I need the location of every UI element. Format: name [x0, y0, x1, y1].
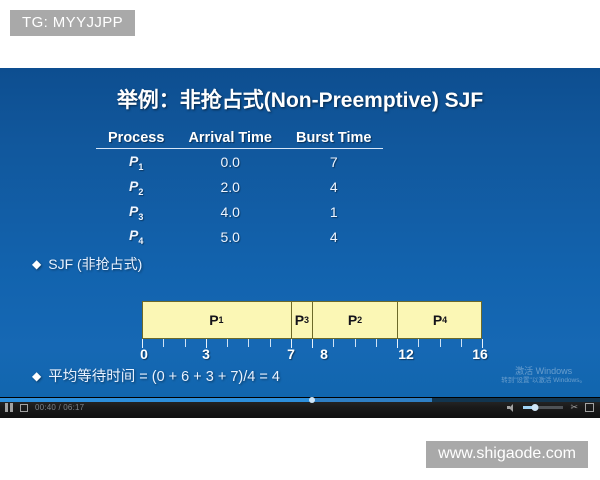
column-header-burst-time: Burst Time: [284, 130, 383, 149]
cell-burst: 7: [284, 149, 383, 174]
gantt-chart: P1 P3 P2 P4: [142, 301, 482, 339]
process-table: Process Arrival Time Burst Time P1 0.0 7…: [96, 130, 383, 248]
gantt-segment-p2: P2: [312, 301, 397, 339]
speaker-icon[interactable]: [507, 403, 516, 412]
table-header-row: Process Arrival Time Burst Time: [96, 130, 383, 149]
windows-activation-line2: 转到"设置"以激活 Windows。: [501, 377, 586, 385]
cell-burst: 4: [284, 223, 383, 248]
cell-arrival: 4.0: [176, 199, 284, 224]
windows-activation-watermark: 激活 Windows 转到"设置"以激活 Windows。: [501, 366, 586, 385]
wrench-icon[interactable]: ✂: [570, 403, 578, 412]
diamond-bullet-icon: ◆: [32, 257, 41, 271]
cell-process: P2: [96, 174, 176, 199]
screenshot-root: TG: MYYJJPP 举例：非抢占式(Non-Preemptive) SJF …: [0, 0, 600, 480]
controls-left-group: 00:40 / 06:17: [5, 403, 84, 412]
site-watermark: www.shigaode.com: [426, 441, 588, 468]
gantt-segment-p3: P3: [291, 301, 312, 339]
axis-tick-label: 8: [320, 346, 328, 362]
time-display: 00:40 / 06:17: [35, 403, 84, 412]
cell-arrival: 2.0: [176, 174, 284, 199]
cell-process: P1: [96, 149, 176, 174]
seek-handle[interactable]: [309, 397, 315, 403]
video-player[interactable]: 举例：非抢占式(Non-Preemptive) SJF Process Arri…: [0, 68, 600, 417]
cell-arrival: 0.0: [176, 149, 284, 174]
pause-icon[interactable]: [5, 403, 13, 412]
volume-handle[interactable]: [532, 404, 539, 411]
axis-tick-label: 16: [472, 346, 488, 362]
column-header-process: Process: [96, 130, 176, 149]
controls-right-group: ✂: [507, 403, 594, 412]
average-waiting-time-text: 平均等待时间 = (0 + 6 + 3 + 7)/4 = 4: [48, 369, 280, 385]
presentation-slide: 举例：非抢占式(Non-Preemptive) SJF Process Arri…: [0, 68, 600, 397]
played-range: [0, 398, 312, 402]
cell-burst: 1: [284, 199, 383, 224]
table-row: P4 5.0 4: [96, 223, 383, 248]
axis-tick-label: 3: [202, 346, 210, 362]
table-row: P3 4.0 1: [96, 199, 383, 224]
stop-icon[interactable]: [20, 404, 28, 412]
tg-watermark-badge: TG: MYYJJPP: [10, 10, 135, 36]
cell-process: P4: [96, 223, 176, 248]
cell-burst: 4: [284, 174, 383, 199]
bullet-sjf: ◆SJF (非抢占式): [32, 254, 142, 274]
page-title: 举例：非抢占式(Non-Preemptive) SJF: [0, 84, 600, 114]
seek-slider[interactable]: [0, 398, 600, 402]
volume-slider[interactable]: [523, 406, 563, 409]
column-header-arrival-time: Arrival Time: [176, 130, 284, 149]
bullet-sjf-label: SJF (非抢占式): [48, 256, 142, 272]
table-row: P2 2.0 4: [96, 174, 383, 199]
gantt-segment-p1: P1: [142, 301, 291, 339]
fullscreen-icon[interactable]: [585, 403, 594, 412]
axis-tick-label: 7: [287, 346, 295, 362]
cell-process: P3: [96, 199, 176, 224]
gantt-segment-p4: P4: [397, 301, 482, 339]
bullet-average-waiting-time: ◆平均等待时间 = (0 + 6 + 3 + 7)/4 = 4: [32, 365, 280, 386]
cell-arrival: 5.0: [176, 223, 284, 248]
player-control-bar[interactable]: 00:40 / 06:17 ✂: [0, 397, 600, 418]
diamond-bullet-icon: ◆: [32, 369, 41, 383]
table-row: P1 0.0 7: [96, 149, 383, 174]
axis-tick-label: 0: [140, 346, 148, 362]
axis-tick-label: 12: [398, 346, 414, 362]
